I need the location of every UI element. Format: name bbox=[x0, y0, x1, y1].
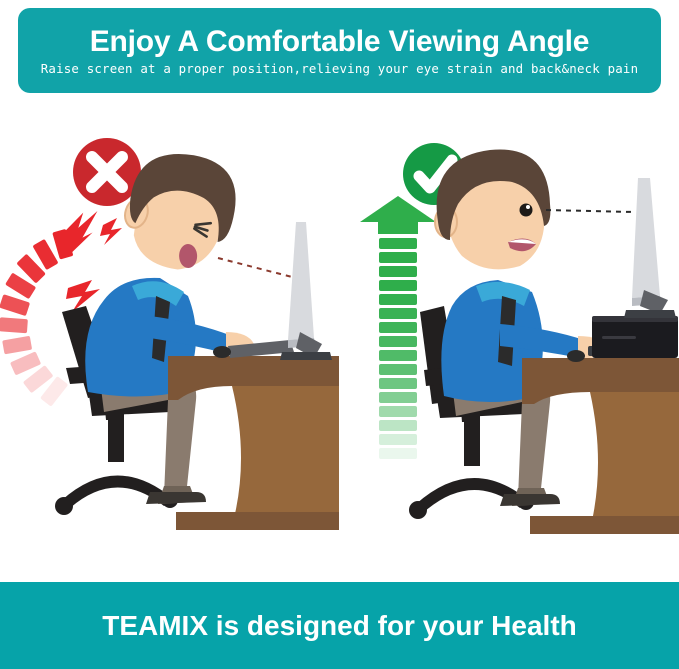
panel-incorrect-posture bbox=[0, 100, 339, 578]
footer-tagline: TEAMIX is designed for your Health bbox=[102, 610, 577, 642]
mouse bbox=[567, 350, 585, 362]
desk bbox=[168, 356, 339, 530]
mouse bbox=[213, 346, 231, 358]
monitor-riser-stand bbox=[592, 316, 678, 358]
head bbox=[435, 149, 550, 269]
footer-banner: TEAMIX is designed for your Health bbox=[0, 582, 679, 669]
sightline-dashed bbox=[546, 210, 634, 212]
page-title: Enjoy A Comfortable Viewing Angle bbox=[90, 25, 590, 59]
sightline-dashed bbox=[218, 258, 296, 278]
desk bbox=[522, 358, 679, 534]
monitor-raised bbox=[624, 178, 676, 318]
header-banner: Enjoy A Comfortable Viewing Angle Raise … bbox=[18, 8, 661, 93]
panel-correct-posture bbox=[340, 100, 679, 578]
page-subtitle: Raise screen at a proper position,reliev… bbox=[41, 61, 638, 77]
monitor-low bbox=[280, 222, 332, 360]
red-x-circle-icon bbox=[73, 138, 141, 206]
illustration-area bbox=[0, 100, 679, 578]
